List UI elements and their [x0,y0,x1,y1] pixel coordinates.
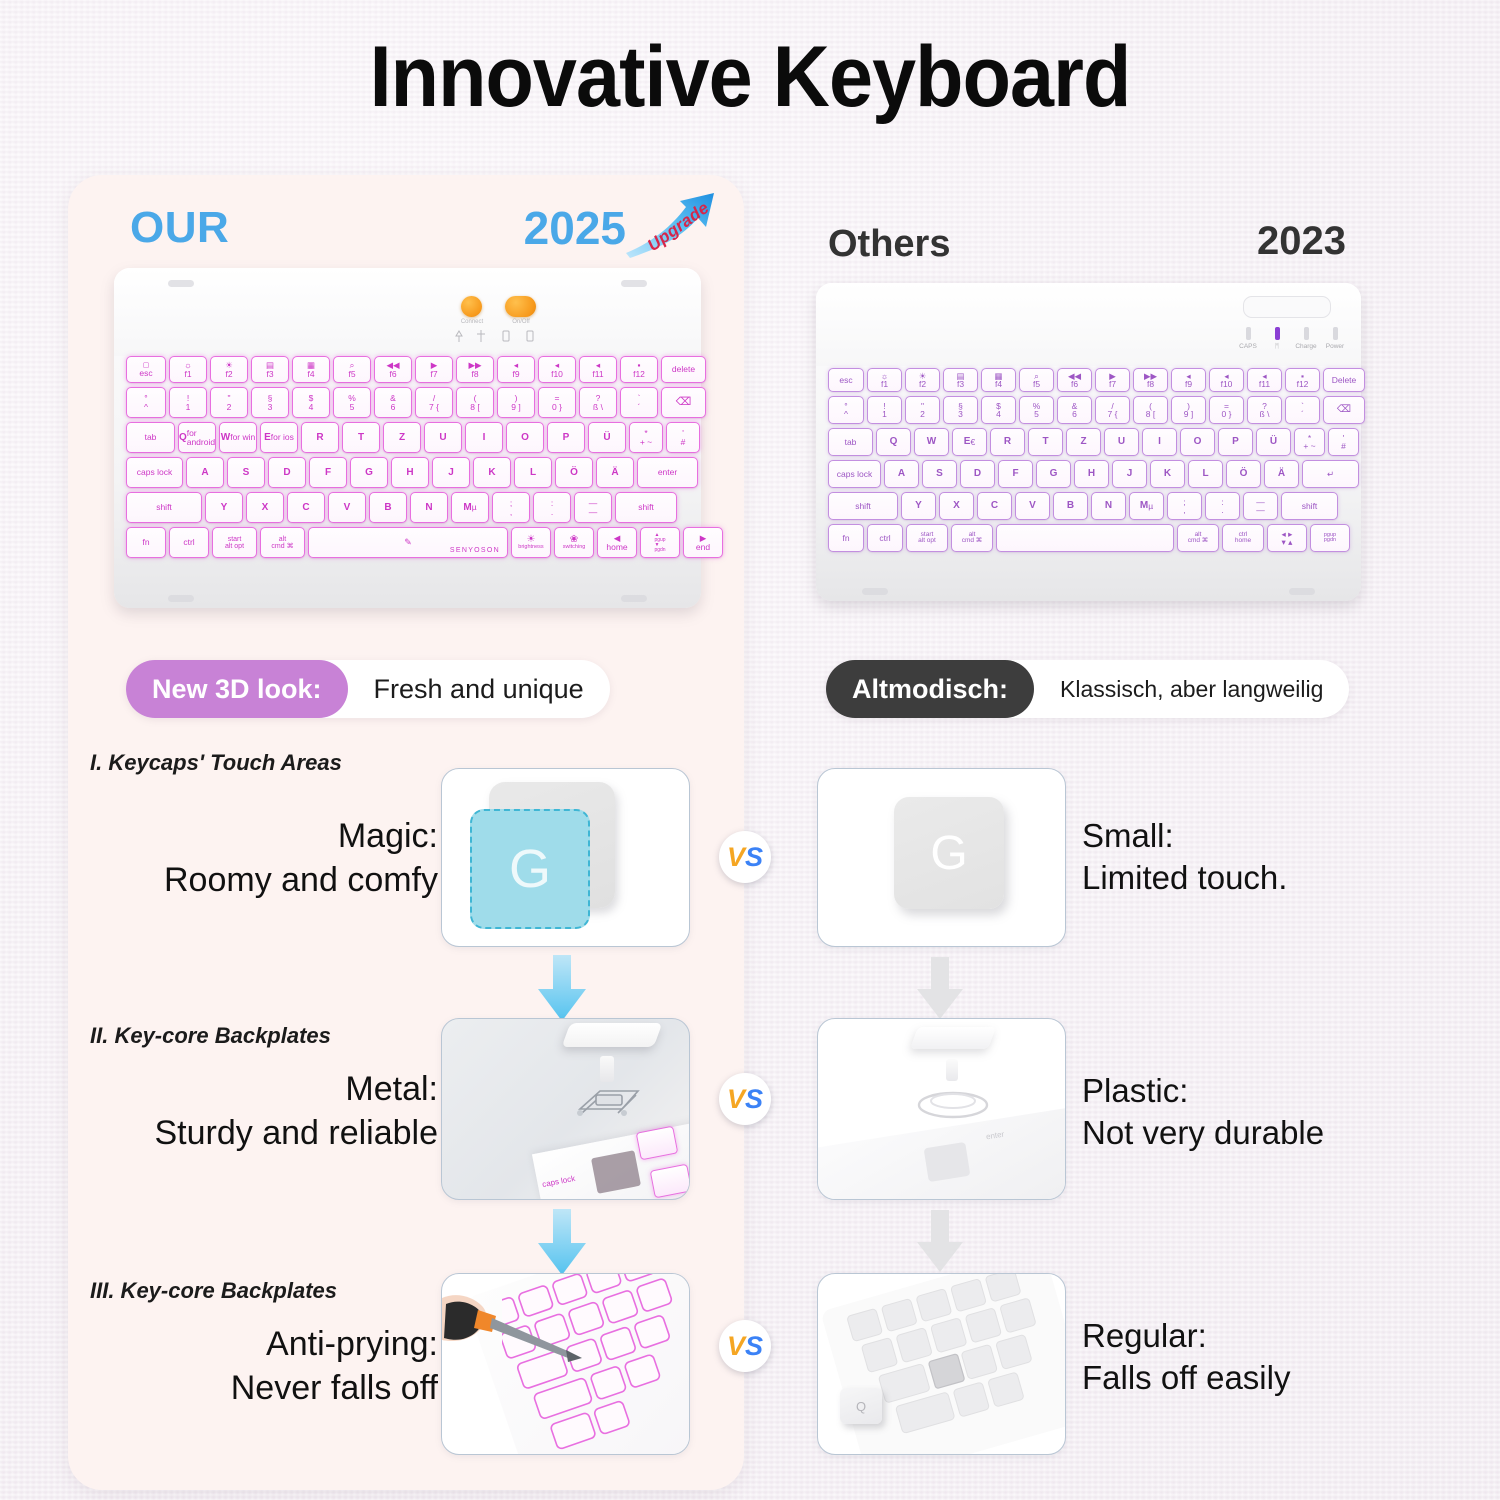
page-title: Innovative Keyboard [60,28,1440,127]
key-H[interactable]: H [391,457,429,488]
others-key-underscore[interactable]: —— [1243,492,1278,520]
others-key-f2[interactable]: ☀f2 [905,368,940,392]
others-key-sz[interactable]: ?ß \ [1247,396,1282,424]
key-f4[interactable]: ▦f4 [292,356,330,383]
led-caps [1246,327,1251,340]
others-key-Y[interactable]: Y [901,492,936,520]
others-key-f11[interactable]: ◂f11 [1247,368,1282,392]
key-f5[interactable]: ⌕f5 [333,356,371,383]
key-J[interactable]: J [432,457,470,488]
our-feature-image-2: caps lock [441,1018,690,1200]
others-q-row: tab Q W E€ R T Z U I O P Ü *+ ~ '# [828,428,1362,456]
others-key-1[interactable]: !1 [867,396,902,424]
connect-indicator-button[interactable] [461,296,482,317]
others-panel: Others 2023 CAPS ᛗ Charge Power esc ☼f1 … [800,175,1430,1490]
others-fn-row: esc ☼f1 ☀f2 ▤f3 ▦f4 ⌕f5 ◀◀f6 ▶f7 ▶▶f8 ◂f… [828,368,1368,392]
led-label-bluetooth: ᛗ [1263,343,1291,350]
others-key-f9[interactable]: ◂f9 [1171,368,1206,392]
others-feature-headline-1: Small: [1082,815,1287,857]
others-key-E[interactable]: E€ [952,428,987,456]
others-key-ctrl-home[interactable]: ctrlhome [1222,524,1264,552]
others-key-Ue[interactable]: Ü [1256,428,1291,456]
others-key-J[interactable]: J [1112,460,1147,488]
others-bottom-row: fn ctrl startalt opt altcmd ⌘ altcmd ⌘ c… [828,524,1353,552]
others-key-f12[interactable]: ▪f12 [1285,368,1320,392]
key-ctrl[interactable]: ctrl [169,527,209,558]
others-key-start-altopt[interactable]: startalt opt [906,524,948,552]
others-key-2[interactable]: "2 [905,396,940,424]
others-key-A[interactable]: A [884,460,919,488]
others-badge-tag: Altmodisch: [826,660,1034,718]
key-f9[interactable]: ◂f9 [497,356,535,383]
key-D[interactable]: D [268,457,306,488]
others-feature-subline-2: Not very durable [1082,1112,1324,1154]
others-a-row: caps lock A S D F G H J K L Ö Ä ↵ [828,460,1362,488]
others-key-D[interactable]: D [960,460,995,488]
key-K[interactable]: K [473,457,511,488]
our-feature-headline-3: Anti-prying: [88,1323,438,1367]
key-Z[interactable]: Z [383,422,421,453]
others-keyboard-photo-icon [817,1273,1066,1455]
status-glyph-row-icon [451,328,547,346]
key-end-right[interactable]: ▶end [683,527,723,558]
others-feature-image-1: G [817,768,1066,947]
our-keyboard-foot-right [621,595,647,602]
others-key-arrows[interactable]: ◂ ▸▾ ▴ [1267,524,1307,552]
our-fn-row: ▢esc ☼f1 ☀f2 ▤f3 ▦f4 ⌕f5 ◀◀f6 ▶f7 ▶▶f8 ◂… [126,356,709,383]
others-key-K[interactable]: K [1150,460,1185,488]
others-keycap-small: G [894,797,1004,909]
our-badge-description: Fresh and unique [348,674,610,705]
key-f3[interactable]: ▤f3 [251,356,289,383]
key-6[interactable]: &6 [374,387,412,418]
keycap-letter-g: G [509,838,551,900]
others-key-enter[interactable]: ↵ [1302,460,1359,488]
key-P[interactable]: P [547,422,585,453]
key-O[interactable]: O [506,422,544,453]
key-fn[interactable]: fn [126,527,166,558]
others-key-H[interactable]: H [1074,460,1109,488]
key-semicolon[interactable]: ;, [492,492,530,523]
vs-badge-2-s: S [745,1084,763,1115]
others-key-M[interactable]: Mµ [1129,492,1164,520]
others-key-fn[interactable]: fn [828,524,864,552]
key-Y[interactable]: Y [205,492,243,523]
key-U[interactable]: U [424,422,462,453]
key-R[interactable]: R [301,422,339,453]
led-label-power: Power [1321,343,1349,350]
key-8[interactable]: (8 [ [456,387,494,418]
others-key-9[interactable]: )9 ] [1171,396,1206,424]
our-feature-headline-1: Magic: [88,815,438,859]
key-enter[interactable]: enter [637,457,698,488]
others-feature-text-2: Plastic: Not very durable [1082,1070,1324,1154]
others-key-T[interactable]: T [1028,428,1063,456]
key-Ue[interactable]: Ü [588,422,626,453]
key-1[interactable]: !1 [169,387,207,418]
others-flow-arrow-2 [914,1210,966,1274]
key-E[interactable]: Efor ios [260,422,298,453]
others-key-I[interactable]: I [1142,428,1177,456]
our-feature-text-2: Metal: Sturdy and reliable [68,1068,438,1155]
led-bluetooth [1275,327,1280,340]
others-key-R[interactable]: R [990,428,1025,456]
others-keyboard-foot-left [862,588,888,595]
our-z-row: shift Y X C V B N Mµ ;, :. —— shift [126,492,680,523]
onoff-indicator-button[interactable] [505,296,536,317]
key-shift-right[interactable]: shift [615,492,677,523]
our-keyboard: Connect On/Off ▢esc ☼f1 ☀f2 ▤f3 ▦f4 ⌕f5 … [114,268,701,608]
our-flow-arrow-2 [536,1209,588,1277]
others-key-L[interactable]: L [1188,460,1223,488]
key-Q[interactable]: Qfor android [178,422,216,453]
others-number-row: °^ !1 "2 §3 $4 %5 &6 /7 { (8 [ )9 ] =0 }… [828,396,1368,424]
our-keyboard-notch-left [168,280,194,287]
our-keyboard-notch-right [621,280,647,287]
others-key-3[interactable]: §3 [943,396,978,424]
key-hash[interactable]: '# [666,422,700,453]
key-backspace[interactable]: ⌫ [661,387,706,418]
our-keyboard-foot-left [168,595,194,602]
others-key-tab[interactable]: tab [828,428,873,456]
key-0[interactable]: =0 } [538,387,576,418]
others-keyboard: CAPS ᛗ Charge Power esc ☼f1 ☀f2 ▤f3 ▦f4 … [816,283,1361,601]
key-space[interactable]: ✎ SENYOSON [308,527,508,558]
our-a-row: caps lock A S D F G H J K L Ö Ä enter [126,457,701,488]
others-feature-text-3: Regular: Falls off easily [1082,1315,1290,1399]
key-A[interactable]: A [186,457,224,488]
key-V[interactable]: V [328,492,366,523]
others-key-shift-right[interactable]: shift [1281,492,1338,520]
our-panel: OUR 2025 Upgrade Connect On/Off [68,175,744,1490]
key-shift-left[interactable]: shift [126,492,202,523]
others-year-label: 2023 [1257,219,1346,264]
our-badge-tag: New 3D look: [126,660,348,718]
our-badge-pill: New 3D look: Fresh and unique [126,660,610,718]
key-capslock[interactable]: caps lock [126,457,183,488]
key-f11[interactable]: ◂f11 [579,356,617,383]
vs-badge-1-v: V [727,842,745,873]
key-delete[interactable]: delete [661,356,706,383]
key-f10[interactable]: ◂f10 [538,356,576,383]
others-key-V[interactable]: V [1015,492,1050,520]
our-feature-image-3 [441,1273,690,1455]
others-key-alt-cmd[interactable]: altcmd ⌘ [951,524,993,552]
key-f6[interactable]: ◀◀f6 [374,356,412,383]
key-caret[interactable]: °^ [126,387,166,418]
others-key-O[interactable]: O [1180,428,1215,456]
our-bottom-row: fn ctrl startalt opt altcmd ⌘ ✎ SENYOSON… [126,527,726,558]
others-key-f1[interactable]: ☼f1 [867,368,902,392]
others-key-ctrl[interactable]: ctrl [867,524,903,552]
others-key-G[interactable]: G [1036,460,1071,488]
key-pgup-pgdn[interactable]: ▲pgup▼pgdn [640,527,680,558]
key-W[interactable]: Wfor win [219,422,257,453]
key-9[interactable]: )9 ] [497,387,535,418]
key-f1[interactable]: ☼f1 [169,356,207,383]
others-key-6[interactable]: &6 [1057,396,1092,424]
others-key-P[interactable]: P [1218,428,1253,456]
others-key-pgup-pgdn[interactable]: pguppgdn [1310,524,1350,552]
others-key-Z[interactable]: Z [1066,428,1101,456]
others-key-space[interactable] [996,524,1174,552]
key-4[interactable]: $4 [292,387,330,418]
others-badge-description: Klassisch, aber langweilig [1034,676,1349,703]
key-esc[interactable]: ▢esc [126,356,166,383]
led-label-charge: Charge [1292,343,1320,350]
key-X[interactable]: X [246,492,284,523]
others-key-f5[interactable]: ⌕f5 [1019,368,1054,392]
screwdriver-hand-icon [442,1292,602,1400]
others-key-acute[interactable]: `´ [1285,396,1320,424]
our-feature-subline-3: Never falls off [88,1367,438,1411]
our-q-row: tab Qfor android Wfor win Efor ios R T Z… [126,422,703,453]
others-key-f3[interactable]: ▤f3 [943,368,978,392]
others-key-8[interactable]: (8 [ [1133,396,1168,424]
others-key-esc[interactable]: esc [828,368,864,392]
others-key-delete[interactable]: Delete [1323,368,1365,392]
key-f8[interactable]: ▶▶f8 [456,356,494,383]
key-C[interactable]: C [287,492,325,523]
key-5[interactable]: %5 [333,387,371,418]
key-home-left[interactable]: ◀home [597,527,637,558]
key-underscore[interactable]: —— [574,492,612,523]
key-I[interactable]: I [465,422,503,453]
key-M[interactable]: Mµ [451,492,489,523]
plastic-backplate-icon [908,1081,998,1125]
key-sz[interactable]: ?ß \ [579,387,617,418]
others-feature-image-3: Q [817,1273,1066,1455]
key-Ae[interactable]: Ä [596,457,634,488]
our-section-title-2: II. Key-core Backplates [90,1023,331,1049]
led-charge [1304,327,1309,340]
others-key-semicolon[interactable]: ;, [1167,492,1202,520]
others-key-f6[interactable]: ◀◀f6 [1057,368,1092,392]
exploded-keycap [562,1023,663,1047]
others-key-5[interactable]: %5 [1019,396,1054,424]
others-feature-image-2: enter [817,1018,1066,1200]
vs-badge-3-v: V [727,1331,745,1362]
spacebar-brand: SENYOSON [450,547,500,554]
others-flow-arrow-1 [914,957,966,1021]
others-brand-label: Others [828,223,950,266]
key-G[interactable]: G [350,457,388,488]
others-key-plus[interactable]: *+ ~ [1294,428,1325,456]
our-section-title-3: III. Key-core Backplates [90,1278,337,1304]
others-key-Ae[interactable]: Ä [1264,460,1299,488]
our-feature-image-1: G [441,768,690,947]
key-N[interactable]: N [410,492,448,523]
key-alt-cmd[interactable]: altcmd ⌘ [260,527,305,558]
others-feature-text-1: Small: Limited touch. [1082,815,1287,899]
others-key-B[interactable]: B [1053,492,1088,520]
others-key-hash[interactable]: '# [1328,428,1359,456]
others-key-X[interactable]: X [939,492,974,520]
key-T[interactable]: T [342,422,380,453]
key-S[interactable]: S [227,457,265,488]
others-key-U[interactable]: U [1104,428,1139,456]
key-start-altopt[interactable]: startalt opt [212,527,257,558]
others-key-N[interactable]: N [1091,492,1126,520]
our-flow-arrow-1 [536,955,588,1023]
others-key-shift-left[interactable]: shift [828,492,898,520]
others-key-alt-cmd-right[interactable]: altcmd ⌘ [1177,524,1219,552]
others-feature-headline-3: Regular: [1082,1315,1290,1357]
vs-badge-2: VS [719,1073,771,1125]
others-keycap-letter-g: G [930,826,967,881]
others-exploded-keycap [910,1027,996,1049]
others-key-7[interactable]: /7 { [1095,396,1130,424]
others-key-Oe[interactable]: Ö [1226,460,1261,488]
key-plus[interactable]: *+ ~ [629,422,663,453]
our-feature-text-3: Anti-prying: Never falls off [88,1323,438,1410]
others-badge-pill: Altmodisch: Klassisch, aber langweilig [826,660,1349,718]
vs-badge-1: VS [719,831,771,883]
others-key-S[interactable]: S [922,460,957,488]
key-acute[interactable]: `´ [620,387,658,418]
key-f12[interactable]: ▪f12 [620,356,658,383]
key-2[interactable]: "2 [210,387,248,418]
others-key-F[interactable]: F [998,460,1033,488]
key-brightness[interactable]: ☀brightness [511,527,551,558]
our-feature-subline-1: Roomy and comfy [88,859,438,903]
our-keyboard-top-strip [114,268,701,356]
others-backplate-socket [924,1142,971,1182]
key-F[interactable]: F [309,457,347,488]
others-feature-headline-2: Plastic: [1082,1070,1324,1112]
others-key-f4[interactable]: ▦f4 [981,368,1016,392]
key-7[interactable]: /7 { [415,387,453,418]
keycap-stem [600,1056,614,1082]
vs-badge-3: VS [719,1320,771,1372]
onoff-indicator-label: On/Off [493,319,549,325]
others-keyboard-foot-right [1289,588,1315,595]
key-f7[interactable]: ▶f7 [415,356,453,383]
others-key-0[interactable]: =0 } [1209,396,1244,424]
others-key-backspace[interactable]: ⌫ [1323,396,1365,424]
key-switching[interactable]: ❀switching [554,527,594,558]
vs-badge-2-v: V [727,1084,745,1115]
our-brand-label: OUR [130,203,229,253]
key-3[interactable]: §3 [251,387,289,418]
key-Oe[interactable]: Ö [555,457,593,488]
others-key-capslock[interactable]: caps lock [828,460,881,488]
others-feature-subline-1: Limited touch. [1082,857,1287,899]
key-B[interactable]: B [369,492,407,523]
others-keycap-stem [946,1059,958,1081]
others-key-C[interactable]: C [977,492,1012,520]
our-section-title-1: I. Keycaps' Touch Areas [90,750,342,776]
led-power [1333,327,1338,340]
key-f2[interactable]: ☀f2 [210,356,248,383]
metal-scissor-backplate-icon [566,1083,652,1127]
our-feature-text-1: Magic: Roomy and comfy [88,815,438,902]
vs-badge-1-s: S [745,842,763,873]
our-feature-subline-2: Sturdy and reliable [68,1112,438,1156]
others-key-f10[interactable]: ◂f10 [1209,368,1244,392]
key-tab[interactable]: tab [126,422,175,453]
others-key-caret[interactable]: °^ [828,396,864,424]
connect-indicator-label: Connect [444,319,500,325]
others-keyboard-handle [1243,296,1331,318]
others-key-colon[interactable]: :. [1205,492,1240,520]
led-label-caps: CAPS [1234,343,1262,350]
keycap-touch-area: G [470,809,590,929]
detached-keycap: Q [840,1388,882,1424]
others-key-Q[interactable]: Q [876,428,911,456]
others-key-4[interactable]: $4 [981,396,1016,424]
our-year-label: 2025 [524,201,626,255]
key-colon[interactable]: :. [533,492,571,523]
others-key-f7[interactable]: ▶f7 [1095,368,1130,392]
others-feature-subline-3: Falls off easily [1082,1357,1290,1399]
others-key-f8[interactable]: ▶▶f8 [1133,368,1168,392]
others-key-W[interactable]: W [914,428,949,456]
key-L[interactable]: L [514,457,552,488]
vs-badge-3-s: S [745,1331,763,1362]
others-z-row: shift Y X C V B N Mµ ;, :. —— shift [828,492,1341,520]
our-feature-headline-2: Metal: [68,1068,438,1112]
our-number-row: °^ !1 "2 §3 $4 %5 &6 /7 { (8 [ )9 ] =0 }… [126,387,709,418]
